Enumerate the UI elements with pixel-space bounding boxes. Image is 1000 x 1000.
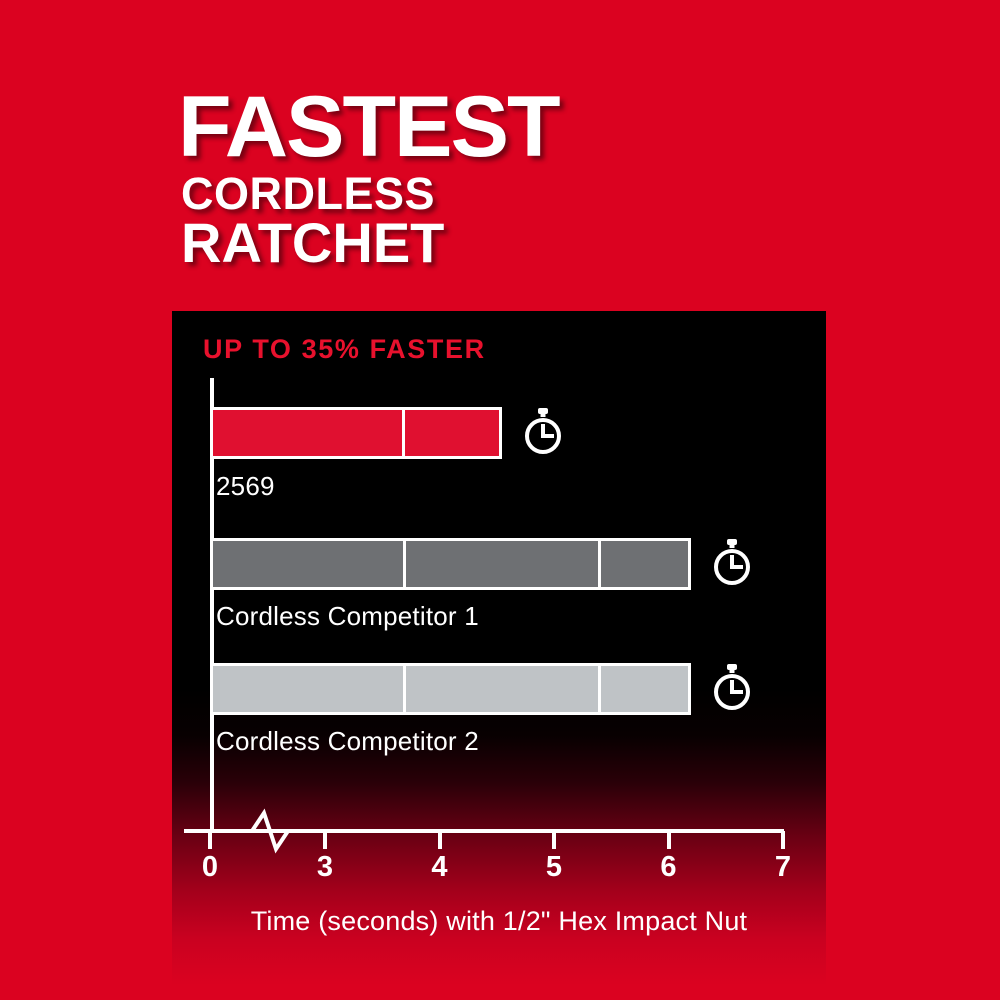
x-axis-tick	[667, 831, 671, 849]
bar-segment	[598, 666, 688, 712]
bar-segment	[403, 541, 597, 587]
bar	[210, 407, 502, 459]
x-axis-tick-label: 3	[317, 851, 333, 884]
bar-segment	[213, 666, 403, 712]
bar-segment	[213, 541, 403, 587]
axis-break-icon	[234, 805, 310, 855]
x-axis-tick	[208, 831, 212, 849]
bar	[210, 538, 691, 590]
stopwatch-icon	[707, 662, 757, 712]
x-axis-tick	[323, 831, 327, 849]
chart-title: UP TO 35% FASTER	[203, 334, 486, 365]
bar-segment	[403, 666, 597, 712]
bar-label: 2569	[216, 471, 275, 502]
x-axis-tick-label: 6	[660, 851, 676, 884]
x-axis-tick	[781, 831, 785, 849]
x-axis-tick	[552, 831, 556, 849]
bar-segment	[402, 410, 500, 456]
bar-segment	[213, 410, 402, 456]
bar-label: Cordless Competitor 1	[216, 601, 479, 632]
x-axis-tick-label: 4	[431, 851, 447, 884]
bar-segment	[598, 541, 688, 587]
headline-line-1: FASTEST	[178, 88, 559, 167]
bar	[210, 663, 691, 715]
infographic-root: FASTEST CORDLESS RATCHET UP TO 35% FASTE…	[0, 0, 1000, 1000]
x-axis-tick-label: 0	[202, 851, 218, 884]
stopwatch-icon	[707, 537, 757, 587]
stopwatch-icon	[518, 406, 568, 456]
x-axis-tick-label: 7	[775, 851, 791, 884]
headline-line-3: RATCHET	[181, 217, 551, 269]
chart-caption: Time (seconds) with 1/2" Hex Impact Nut	[172, 906, 826, 937]
headline: FASTEST CORDLESS RATCHET	[178, 88, 551, 268]
headline-line-2: CORDLESS	[181, 173, 551, 214]
x-axis-tick	[438, 831, 442, 849]
bar-label: Cordless Competitor 2	[216, 726, 479, 757]
x-axis-tick-label: 5	[546, 851, 562, 884]
chart-panel: UP TO 35% FASTER 0345672569Cordless Comp…	[172, 311, 826, 985]
